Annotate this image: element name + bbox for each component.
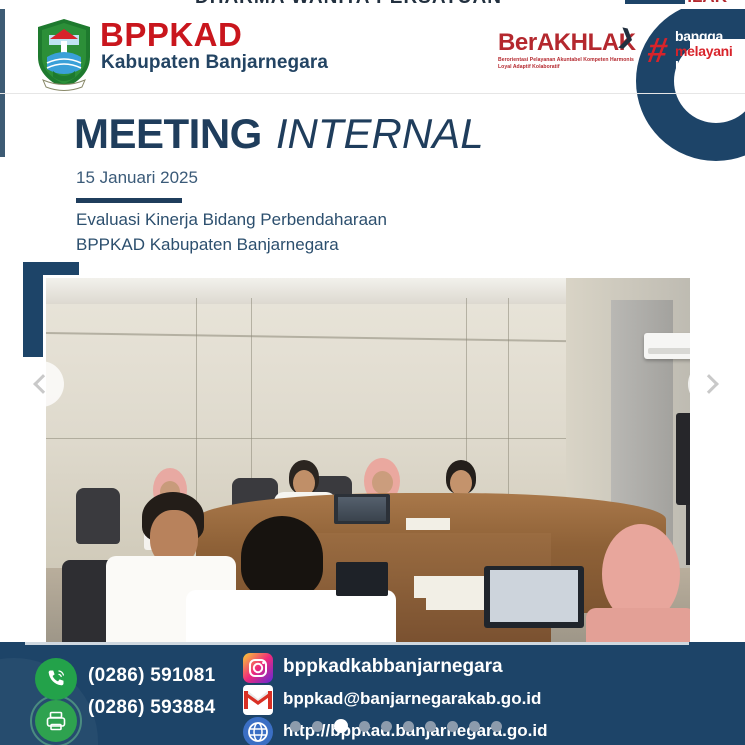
title-rule (76, 198, 182, 203)
carousel-prev-button[interactable] (18, 361, 64, 407)
gmail-envelope-icon[interactable] (243, 685, 273, 715)
instagram-icon[interactable] (243, 653, 273, 683)
slide-page: DHARMA WANITA PERSATUAN BerAKHLAK (0, 0, 745, 745)
banjarnegara-coat-of-arms-icon (33, 17, 95, 91)
carousel-dot-5[interactable] (381, 721, 392, 732)
previous-slide-navy-block (625, 0, 685, 4)
phone-number-2: (0286) 593884 (88, 697, 216, 719)
bangga-line-2: melayani (675, 44, 733, 58)
org-name: BPPKAD (100, 18, 242, 51)
current-slide: BPPKAD Kabupaten Banjarnegara BerAKHLAK … (0, 9, 745, 745)
chevron-right-icon (699, 374, 719, 394)
chevron-left-icon (33, 374, 53, 394)
meeting-photo (43, 275, 693, 647)
carousel-next-button[interactable] (688, 361, 734, 407)
carousel-dot-7[interactable] (425, 721, 436, 732)
phone-ringing-icon (35, 658, 77, 700)
carousel-dot-9[interactable] (469, 721, 480, 732)
description-line-2: BPPKAD Kabupaten Banjarnegara (76, 235, 339, 254)
berakhlak-logo: BerAKHLAK ❯ Berorientasi Pelayanan Akunt… (498, 31, 643, 79)
carousel-dot-8[interactable] (447, 721, 458, 732)
slide-header: BPPKAD Kabupaten Banjarnegara BerAKHLAK … (0, 9, 745, 93)
bangga-line-1: bangga (675, 29, 723, 43)
slide-description: Evaluasi Kinerja Bidang Perbendaharaan B… (76, 208, 387, 257)
globe-icon[interactable] (243, 717, 273, 745)
carousel-dot-3[interactable] (334, 719, 348, 733)
description-line-1: Evaluasi Kinerja Bidang Perbendaharaan (76, 210, 387, 229)
carousel-dot-10[interactable] (491, 721, 502, 732)
fax-printer-icon (35, 700, 77, 742)
hash-icon: # (645, 33, 670, 68)
previous-slide-title: DHARMA WANITA PERSATUAN (195, 0, 502, 9)
bangga-line-3: bangsa (675, 59, 722, 73)
carousel-dots[interactable] (290, 719, 502, 733)
instagram-handle[interactable]: bppkadkabbanjarnegara (283, 656, 503, 678)
title-secondary: INTERNAL (276, 110, 484, 157)
berakhlak-wordmark: BerAKHLAK (498, 31, 636, 55)
email-address[interactable]: bppkad@banjarnegarakab.go.id (283, 689, 541, 709)
carousel-dot-4[interactable] (359, 721, 370, 732)
carousel-dot-1[interactable] (290, 721, 301, 732)
bangga-melayani-bangsa-logo: # bangga melayani bangsa (648, 29, 745, 85)
header-divider (0, 93, 745, 94)
phone-number-1: (0286) 591081 (88, 665, 216, 687)
carousel-dot-2[interactable] (312, 721, 323, 732)
page-title: MEETINGINTERNAL (74, 110, 484, 158)
title-primary: MEETING (74, 110, 262, 157)
footer-divider (25, 642, 689, 645)
carousel-dot-6[interactable] (403, 721, 414, 732)
berakhlak-tagline: Berorientasi Pelayanan Akuntabel Kompete… (498, 57, 648, 72)
previous-slide-sliver: DHARMA WANITA PERSATUAN BerAKHLAK (0, 0, 745, 9)
slide-date: 15 Januari 2025 (76, 168, 198, 188)
org-region: Kabupaten Banjarnegara (101, 53, 328, 72)
air-conditioner (644, 333, 693, 359)
